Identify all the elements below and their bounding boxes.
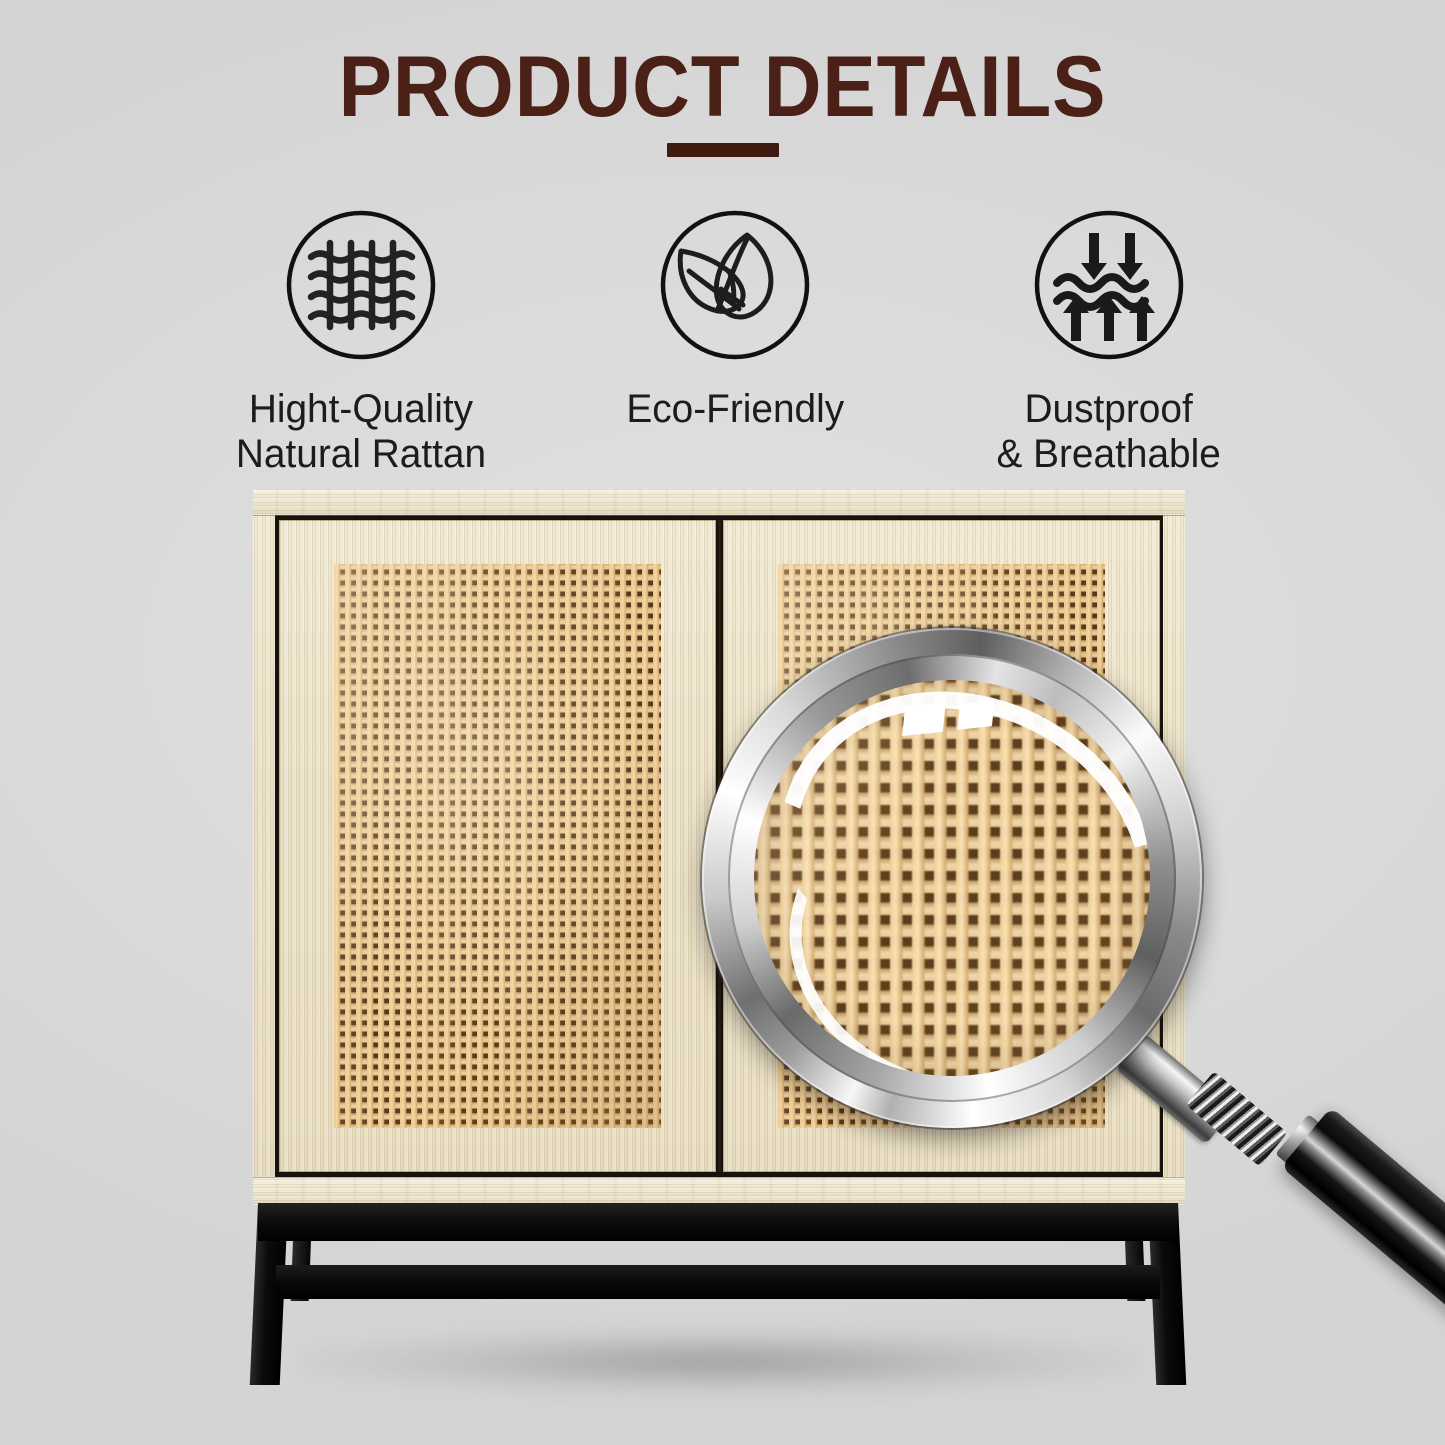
cabinet-left-panel — [253, 515, 275, 1177]
left-rattan-door[interactable] — [279, 520, 716, 1172]
magnifier-handle-grip[interactable] — [1281, 1107, 1445, 1354]
magnifier-lens — [754, 680, 1150, 1076]
rattan-weave-texture — [334, 564, 661, 1128]
cabinet-bottom-plinth — [253, 1177, 1185, 1205]
left-door-rattan-panel — [334, 564, 661, 1128]
base-lower-stretcher-rail — [276, 1265, 1160, 1299]
cabinet-metal-base — [258, 1203, 1178, 1385]
base-top-rail — [258, 1203, 1178, 1241]
infographic-page: PRODUCT DETAILS — [0, 0, 1445, 1445]
product-scene — [0, 0, 1445, 1445]
cabinet-top-surface — [253, 489, 1185, 515]
magnifying-glass[interactable] — [702, 628, 1202, 1128]
